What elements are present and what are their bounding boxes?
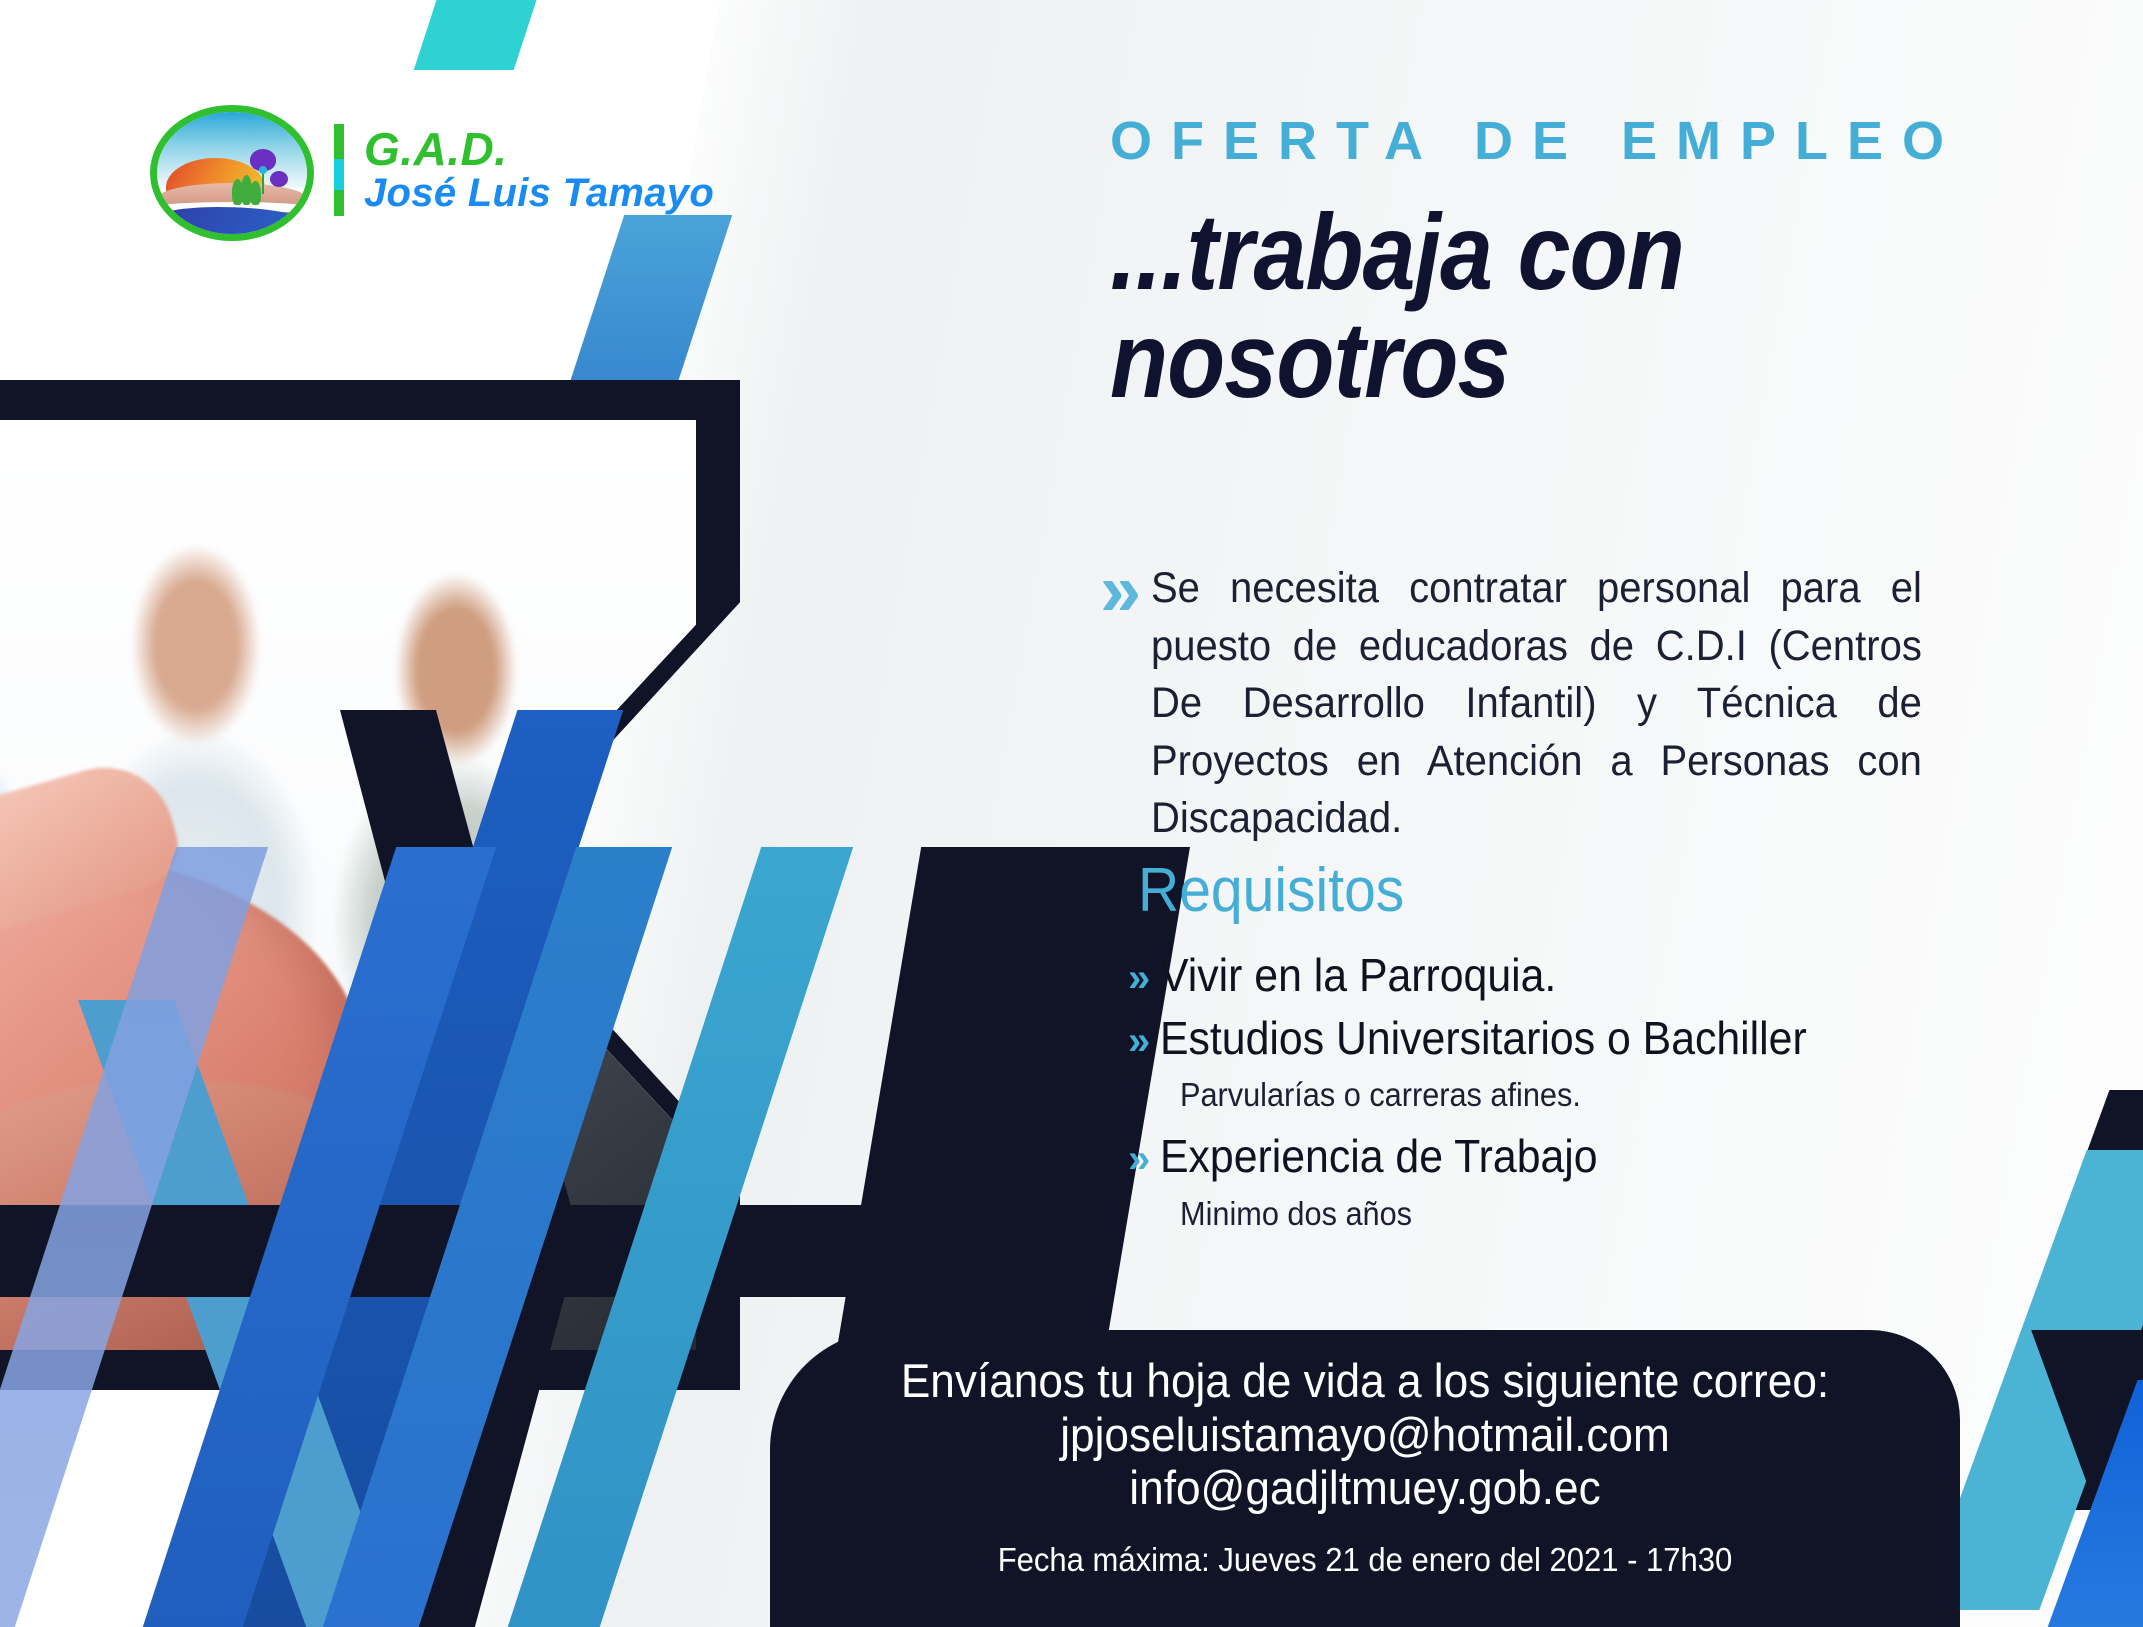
logo-tree-icon xyxy=(250,181,261,205)
contact-panel: Envíanos tu hoja de vida a los siguiente… xyxy=(770,1330,1960,1627)
landscape-circle-logo-icon xyxy=(150,105,310,235)
logo-circle-emblem xyxy=(150,105,314,241)
header-block: OFERTA DE EMPLEO ...trabaja con nosotros xyxy=(1110,110,2010,414)
headline-line-2: nosotros xyxy=(1110,306,1902,414)
logo-wordmark: G.A.D. José Luis Tamayo xyxy=(364,126,714,214)
requirement-label: Estudios Universitarios o Bachiller xyxy=(1160,1008,1807,1069)
double-chevron-right-icon: » xyxy=(1128,1021,1150,1061)
double-chevron-right-icon: » xyxy=(1128,1139,1150,1179)
list-item: » Experiencia de Trabajo xyxy=(1128,1126,2008,1187)
contact-cta: Envíanos tu hoja de vida a los siguiente… xyxy=(806,1354,1925,1408)
requirements-heading: Requisitos xyxy=(1138,855,1404,926)
requirement-label: Vivir en la Parroquia. xyxy=(1160,945,1556,1006)
double-chevron-right-icon: » xyxy=(1100,560,1141,619)
job-description: » Se necesita contratar personal para el… xyxy=(1100,560,1980,848)
double-chevron-right-icon: » xyxy=(1128,958,1150,998)
logo-divider-bar xyxy=(334,124,344,216)
headline-line-1: ...trabaja con xyxy=(1110,198,1902,306)
employment-offer-poster: G.A.D. José Luis Tamayo OFERTA DE EMPLEO… xyxy=(0,0,2143,1627)
logo-parish-name: José Luis Tamayo xyxy=(364,173,714,214)
requirement-detail: Minimo dos años xyxy=(1180,1189,1950,1239)
list-item: » Estudios Universitarios o Bachiller xyxy=(1128,1008,2008,1069)
requirement-label: Experiencia de Trabajo xyxy=(1160,1126,1598,1187)
list-item: » Vivir en la Parroquia. xyxy=(1128,945,2008,1006)
requirements-list: » Vivir en la Parroquia. » Estudios Univ… xyxy=(1128,945,2008,1244)
page-kicker: OFERTA DE EMPLEO xyxy=(1110,110,2010,172)
logo-flower-icon xyxy=(270,171,288,187)
logo-acronym: G.A.D. xyxy=(364,126,714,173)
contact-email-secondary[interactable]: info@gadjltmuey.gob.ec xyxy=(806,1461,1925,1515)
requirement-detail: Parvularías o carreras afines. xyxy=(1180,1070,1950,1120)
application-deadline: Fecha máxima: Jueves 21 de enero del 202… xyxy=(806,1541,1925,1579)
page-title: ...trabaja con nosotros xyxy=(1110,198,1902,414)
logo-flower-center xyxy=(259,166,267,174)
contact-email-primary[interactable]: jpjoseluistamayo@hotmail.com xyxy=(806,1408,1925,1462)
gad-logo: G.A.D. José Luis Tamayo xyxy=(150,105,714,235)
job-description-text: Se necesita contratar personal para el p… xyxy=(1151,560,1922,848)
